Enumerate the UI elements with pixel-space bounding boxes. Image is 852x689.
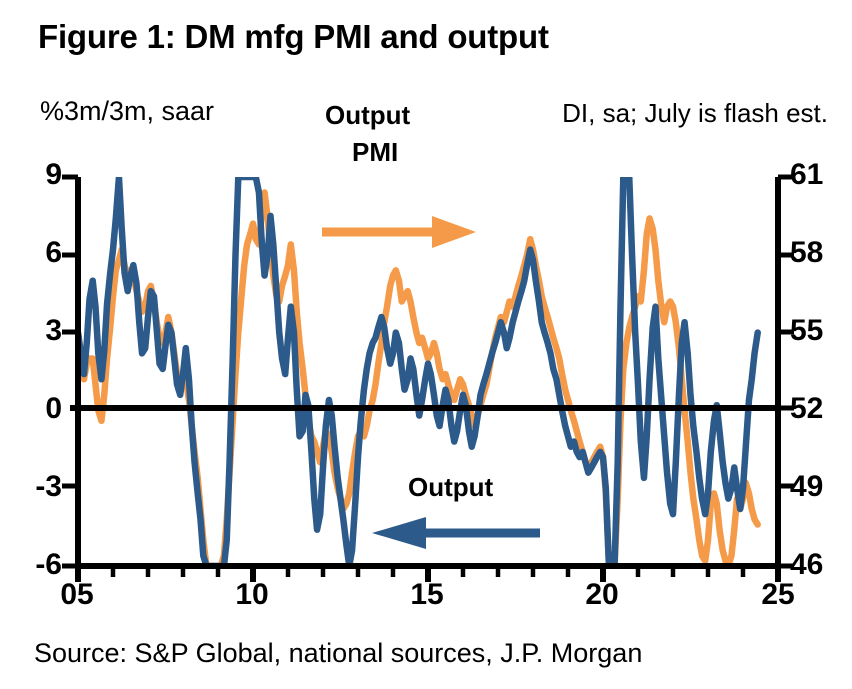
- figure-container: Figure 1: DM mfg PMI and output %3m/3m, …: [0, 0, 852, 689]
- arrow-right-output-pmi: [322, 216, 476, 248]
- arrow-left-output: [372, 517, 540, 549]
- x-axis-ticks: [78, 566, 778, 582]
- plot-area: [0, 0, 852, 689]
